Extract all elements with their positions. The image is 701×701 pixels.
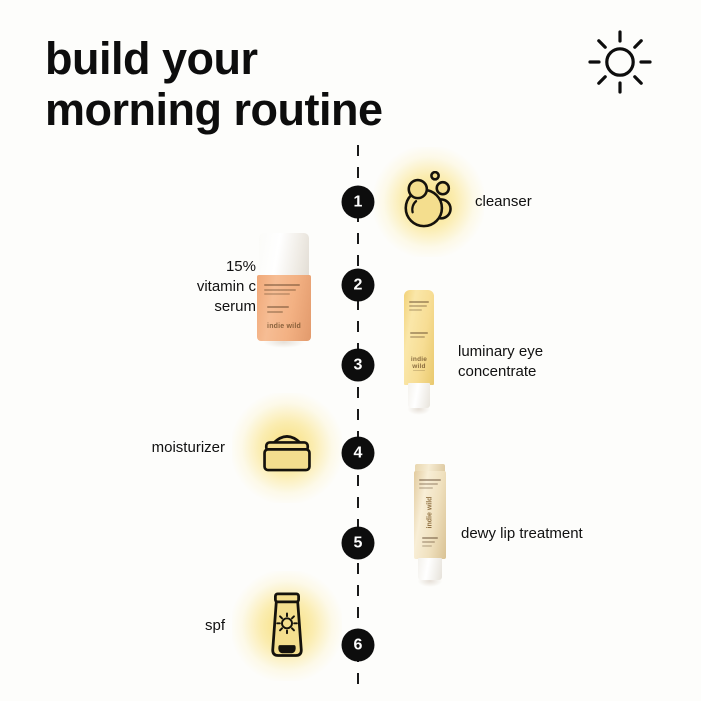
bubbles-icon (374, 147, 484, 257)
routine-infographic: build your morning routine 1 (0, 0, 701, 701)
product-eye-tube: indie wild (404, 290, 434, 408)
brand-mark: indie wild (257, 323, 311, 330)
page-title: build your morning routine (45, 33, 475, 136)
brand-mark: indie wild (404, 356, 434, 370)
step-label-5: dewy lip treatment (461, 524, 661, 544)
tube-cap (418, 558, 442, 580)
step-label-4: moisturizer (40, 438, 225, 458)
tube-body: indie wild (414, 471, 446, 559)
brand-mark: indie wild (427, 490, 434, 536)
step-badge-1[interactable]: 1 (342, 186, 375, 219)
step-label-3: luminary eye concentrate (458, 342, 648, 382)
step-badge-2[interactable]: 2 (342, 269, 375, 302)
product-serum-bottle: indie wild (257, 233, 311, 341)
step-badge-6[interactable]: 6 (342, 629, 375, 662)
tube-body: indie wild (404, 290, 434, 385)
cream-jar-icon (232, 393, 342, 503)
step-label-6: spf (60, 616, 225, 636)
bottle-cap (259, 233, 309, 277)
step-badge-3[interactable]: 3 (342, 349, 375, 382)
bottle-body: indie wild (257, 275, 311, 341)
step-badge-4[interactable]: 4 (342, 437, 375, 470)
product-lip-tube: indie wild (414, 464, 446, 580)
sun-icon (586, 28, 654, 96)
step-badge-5[interactable]: 5 (342, 527, 375, 560)
sunscreen-tube-icon (232, 571, 342, 681)
timeline-dashed-line (357, 145, 359, 691)
tube-cap (408, 383, 430, 408)
step-label-1: cleanser (475, 192, 655, 212)
step-label-2: 15% vitamin c serum (76, 257, 256, 317)
